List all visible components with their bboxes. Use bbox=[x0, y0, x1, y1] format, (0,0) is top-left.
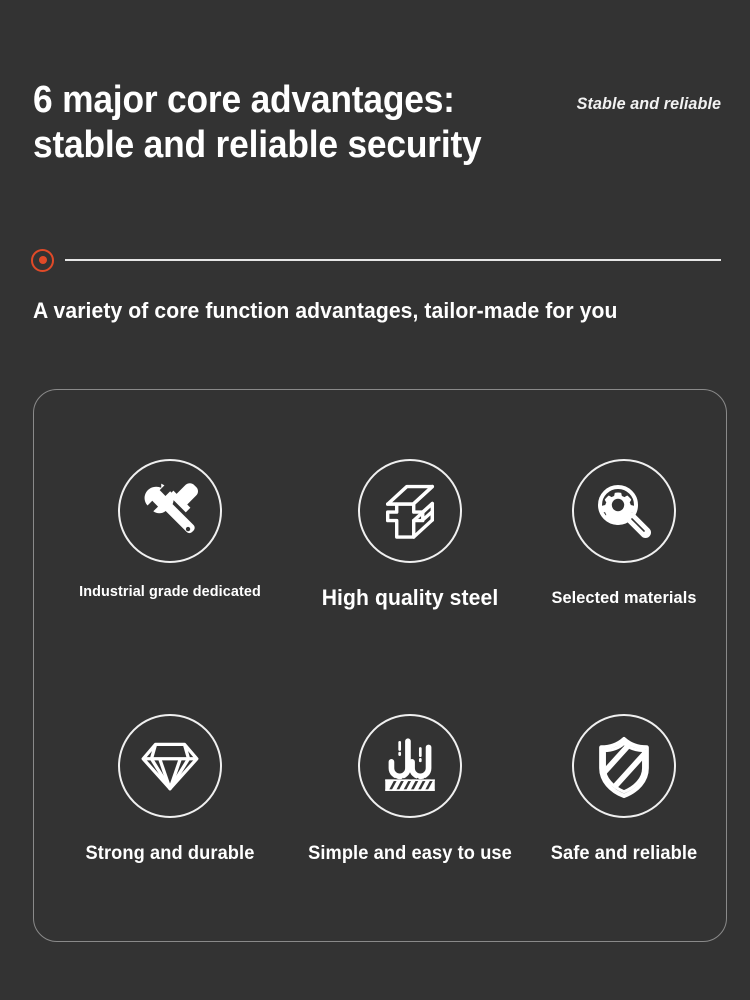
header-section: 6 major core advantages: stable and reli… bbox=[0, 0, 750, 300]
features-panel: Industrial grade dedicated bbox=[33, 389, 727, 942]
promo-page: 6 major core advantages: stable and reli… bbox=[0, 0, 750, 1000]
page-title: 6 major core advantages: stable and reli… bbox=[33, 78, 535, 168]
divider-line bbox=[65, 259, 721, 261]
divider bbox=[31, 248, 721, 272]
feature-item: Selected materials bbox=[480, 459, 750, 606]
feature-item: Safe and reliable bbox=[480, 714, 750, 862]
striped-shield-icon bbox=[572, 714, 676, 818]
feature-label: Safe and reliable bbox=[486, 845, 750, 862]
page-subtitle: A variety of core function advantages, t… bbox=[33, 298, 618, 324]
target-dot-icon bbox=[31, 249, 54, 272]
features-grid: Industrial grade dedicated bbox=[34, 390, 726, 941]
header-kicker: Stable and reliable bbox=[576, 94, 721, 114]
magnifier-gear-icon bbox=[572, 459, 676, 563]
press-install-icon bbox=[358, 714, 462, 818]
steel-ibeam-icon bbox=[358, 459, 462, 563]
feature-label: Selected materials bbox=[486, 589, 750, 606]
diamond-icon bbox=[118, 714, 222, 818]
wrench-hammer-icon bbox=[118, 459, 222, 563]
